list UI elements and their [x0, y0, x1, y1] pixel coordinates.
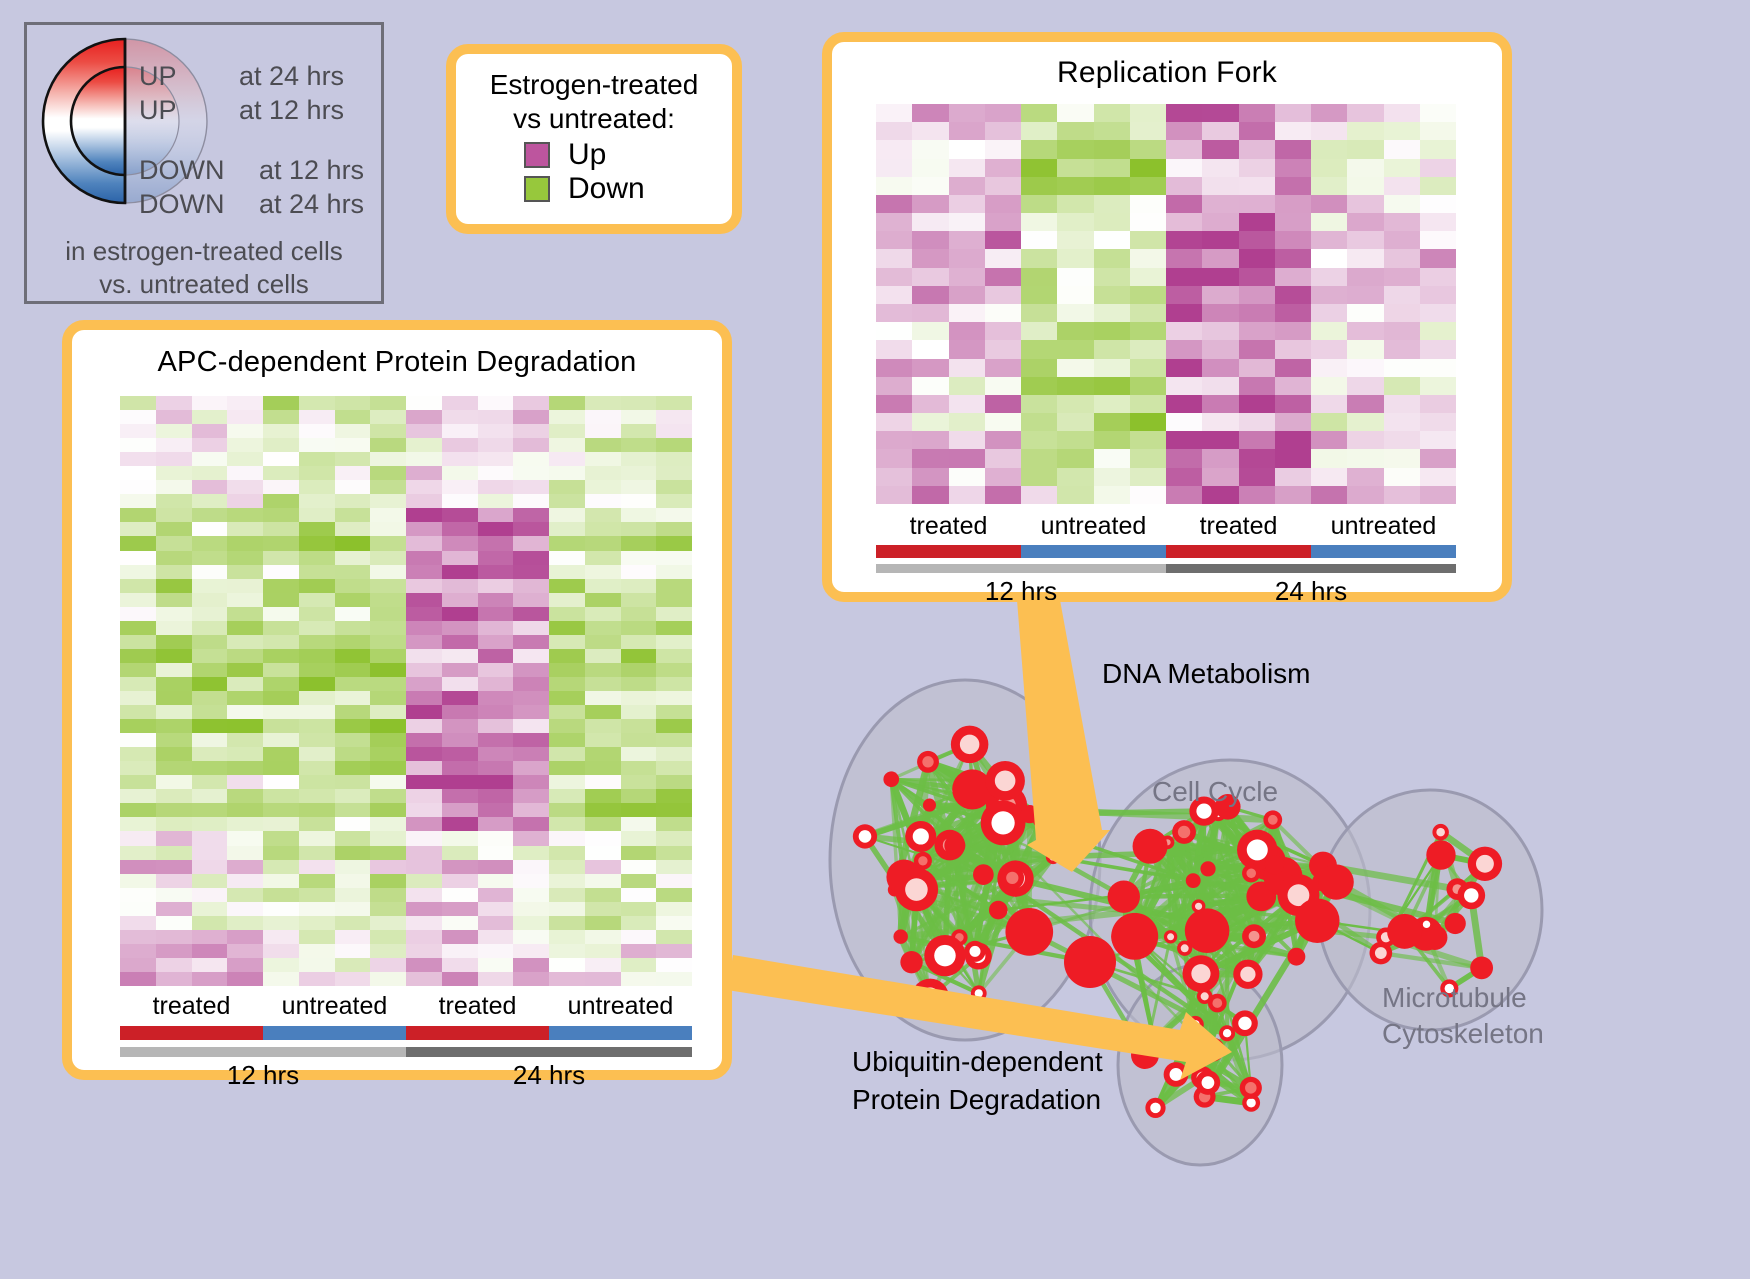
heatmap-cell — [406, 691, 442, 705]
heatmap-cell — [1275, 359, 1311, 377]
heatmap-cell — [156, 916, 192, 930]
heatmap-cell — [949, 286, 985, 304]
heatmap-cell — [985, 249, 1021, 267]
heatmap-cell — [949, 413, 985, 431]
heatmap-cell — [1347, 231, 1383, 249]
heatmap-cell — [263, 747, 299, 761]
network-node-core — [905, 878, 928, 901]
heatmap-cell — [1347, 359, 1383, 377]
heatmap-cell — [192, 649, 228, 663]
heatmap-cell — [192, 522, 228, 536]
heatmap-cell — [478, 789, 514, 803]
heatmap-cell — [1166, 431, 1202, 449]
heatmap-cell — [1275, 431, 1311, 449]
heatmap-cell — [227, 775, 263, 789]
heatmap-cell — [912, 213, 948, 231]
heatmap-cell — [192, 396, 228, 410]
heatmap-cell — [513, 508, 549, 522]
heatmap-cell — [406, 860, 442, 874]
heatmap-cell — [263, 930, 299, 944]
heatmap-cell — [621, 761, 657, 775]
heatmap-cell — [1202, 249, 1238, 267]
cluster-label-cell-cycle: Cell Cycle — [1152, 776, 1278, 808]
heatmap-cell — [1239, 322, 1275, 340]
heatmap-cell — [120, 972, 156, 986]
heatmap-cell — [656, 508, 692, 522]
heatmap-cell — [442, 831, 478, 845]
heatmap-cell — [192, 607, 228, 621]
heatmap-cell — [156, 775, 192, 789]
heatmap-cell — [478, 888, 514, 902]
heatmap-cell — [478, 593, 514, 607]
heatmap-cell — [949, 231, 985, 249]
heatmap-cell — [299, 663, 335, 677]
heatmap-cell — [912, 140, 948, 158]
heatmap-cell — [985, 431, 1021, 449]
heatmap-cell — [478, 733, 514, 747]
heatmap-cell — [192, 536, 228, 550]
heatmap-cell — [656, 424, 692, 438]
heatmap-cell — [949, 340, 985, 358]
heatmap-cell — [1057, 340, 1093, 358]
heatmap-cell — [299, 424, 335, 438]
heatmap-cell — [621, 705, 657, 719]
heatmap-cell — [156, 424, 192, 438]
heatmap-cell — [1275, 195, 1311, 213]
heatmap-cell — [1094, 449, 1130, 467]
network-node-core — [920, 988, 939, 1007]
heatmap-cell — [513, 607, 549, 621]
heatmap-cell — [335, 635, 371, 649]
heatmap-cell — [1275, 486, 1311, 504]
heatmap-cell — [985, 104, 1021, 122]
heatmap-cell — [406, 607, 442, 621]
heatmap-cell — [227, 579, 263, 593]
heatmap-cell — [1202, 304, 1238, 322]
heatmap-cell — [985, 449, 1021, 467]
heatmap-cell — [370, 691, 406, 705]
heatmap-cell — [656, 775, 692, 789]
heatmap-cell — [621, 635, 657, 649]
heatmap-cell — [1384, 213, 1420, 231]
heatmap-cell — [406, 733, 442, 747]
heatmap-cell — [1021, 322, 1057, 340]
heatmap-cell — [585, 508, 621, 522]
heatmap-cell — [335, 874, 371, 888]
heatmap-cell — [621, 803, 657, 817]
heatmap-cell — [1311, 195, 1347, 213]
heatmap-cell — [621, 621, 657, 635]
heatmap-cell — [1384, 286, 1420, 304]
heatmap-cell — [192, 747, 228, 761]
heatmap-cell — [370, 677, 406, 691]
heatmap-cell — [192, 593, 228, 607]
heatmap-cell — [335, 424, 371, 438]
legend-title-line2: vs untreated: — [456, 102, 732, 136]
heatmap-cell — [406, 494, 442, 508]
heatmap-cell — [192, 466, 228, 480]
heatmap-cell — [985, 413, 1021, 431]
heatmap-cell — [370, 831, 406, 845]
heatmap-cell — [478, 944, 514, 958]
heatmap-cell — [1384, 122, 1420, 140]
heatmap-cell — [912, 359, 948, 377]
heatmap-cell — [442, 396, 478, 410]
network-node-core — [991, 811, 1014, 834]
heatmap-cell — [1311, 268, 1347, 286]
apc-annotation: treated untreated treated untreated 12 h… — [120, 992, 692, 1087]
heatmap-cell — [156, 452, 192, 466]
treatment-bar-segment — [1021, 545, 1166, 558]
heatmap-cell — [1275, 395, 1311, 413]
heatmap-cell — [299, 972, 335, 986]
heatmap-cell — [442, 424, 478, 438]
heatmap-cell — [442, 508, 478, 522]
heatmap-cell — [120, 438, 156, 452]
heatmap-cell — [335, 846, 371, 860]
heatmap-cell — [949, 140, 985, 158]
heatmap-cell — [1384, 340, 1420, 358]
heatmap-cell — [621, 649, 657, 663]
network-node-core — [1464, 888, 1478, 902]
heatmap-cell — [1275, 322, 1311, 340]
heatmap-cell — [156, 607, 192, 621]
heatmap-cell — [227, 396, 263, 410]
heatmap-cell — [442, 536, 478, 550]
heatmap-cell — [656, 466, 692, 480]
heatmap-cell — [156, 691, 192, 705]
heatmap-cell — [1202, 377, 1238, 395]
heatmap-cell — [478, 930, 514, 944]
heatmap-cell — [406, 888, 442, 902]
heatmap-cell — [549, 677, 585, 691]
heatmap-cell — [1166, 395, 1202, 413]
heatmap-cell — [912, 268, 948, 286]
heatmap-cell — [299, 930, 335, 944]
heatmap-cell — [192, 705, 228, 719]
heatmap-cell — [299, 607, 335, 621]
heatmap-cell — [478, 916, 514, 930]
heatmap-cell — [585, 396, 621, 410]
heatmap-cell — [1057, 122, 1093, 140]
heatmap-cell — [1094, 159, 1130, 177]
heatmap-cell — [120, 607, 156, 621]
heatmap-cell — [656, 789, 692, 803]
heatmap-cell — [1130, 449, 1166, 467]
heatmap-cell — [1420, 395, 1456, 413]
heatmap-cell — [442, 902, 478, 916]
heatmap-cell — [227, 916, 263, 930]
heatmap-cell — [263, 789, 299, 803]
heatmap-cell — [621, 424, 657, 438]
heatmap-cell — [656, 831, 692, 845]
heatmap-cell — [549, 972, 585, 986]
heatmap-cell — [335, 466, 371, 480]
heatmap-cell — [227, 565, 263, 579]
heatmap-cell — [513, 888, 549, 902]
heatmap-cell — [549, 775, 585, 789]
network-node-core — [1150, 1103, 1161, 1114]
heatmap-cell — [406, 831, 442, 845]
treatment-bar-segment — [549, 1026, 692, 1040]
heatmap-cell — [156, 593, 192, 607]
heatmap-cell — [406, 944, 442, 958]
heatmap-cell — [585, 930, 621, 944]
heatmap-cell — [335, 719, 371, 733]
heatmap-cell — [1275, 249, 1311, 267]
heatmap-cell — [156, 761, 192, 775]
heatmap-cell — [406, 902, 442, 916]
heatmap-cell — [263, 424, 299, 438]
heatmap-cell — [227, 972, 263, 986]
heatmap-cell — [263, 621, 299, 635]
heatmap-cell — [656, 480, 692, 494]
legend-direction-2: DOWN — [139, 155, 224, 186]
heatmap-cell — [513, 944, 549, 958]
heatmap-cell — [192, 438, 228, 452]
heatmap-cell — [621, 607, 657, 621]
network-node-core — [1238, 1017, 1251, 1030]
heatmap-cell — [227, 874, 263, 888]
heatmap-cell — [1166, 122, 1202, 140]
heatmap-cell — [1420, 177, 1456, 195]
heatmap-cell — [549, 733, 585, 747]
heatmap-cell — [263, 508, 299, 522]
heatmap-cell — [442, 888, 478, 902]
heatmap-cell — [549, 761, 585, 775]
treatment-bar-segment — [876, 545, 1021, 558]
heatmap-cell — [120, 579, 156, 593]
heatmap-cell — [478, 817, 514, 831]
heatmap-cell — [120, 494, 156, 508]
heatmap-cell — [621, 579, 657, 593]
heatmap-cell — [1384, 159, 1420, 177]
heatmap-cell — [299, 691, 335, 705]
heatmap-cell — [549, 930, 585, 944]
network-node-core — [1375, 947, 1387, 959]
heatmap-cell — [1202, 122, 1238, 140]
heatmap-cell — [120, 621, 156, 635]
heatmap-cell — [1239, 486, 1275, 504]
heatmap-cell — [621, 846, 657, 860]
heatmap-cell — [1420, 413, 1456, 431]
heatmap-cell — [656, 649, 692, 663]
heatmap-cell — [1420, 268, 1456, 286]
heatmap-cell — [1239, 286, 1275, 304]
heatmap-cell — [120, 747, 156, 761]
heatmap-cell — [513, 705, 549, 719]
heatmap-cell — [406, 846, 442, 860]
heatmap-cell — [656, 565, 692, 579]
heatmap-cell — [1275, 449, 1311, 467]
heatmap-cell — [912, 122, 948, 140]
heatmap-cell — [621, 719, 657, 733]
network-node-core — [1191, 1020, 1200, 1029]
heatmap-cell — [949, 486, 985, 504]
heatmap-cell — [227, 691, 263, 705]
heatmap-cell — [549, 621, 585, 635]
heatmap-cell — [949, 104, 985, 122]
heatmap-cell — [406, 396, 442, 410]
heatmap-cell — [227, 705, 263, 719]
time-label-1: 24 hrs — [406, 1060, 692, 1091]
heatmap-cell — [1420, 377, 1456, 395]
heatmap-cell — [621, 452, 657, 466]
updown-circle-icon — [37, 33, 212, 213]
heatmap-cell — [985, 213, 1021, 231]
heatmap-cell — [406, 972, 442, 986]
heatmap-cell — [1275, 213, 1311, 231]
heatmap-cell — [442, 958, 478, 972]
heatmap-cell — [1021, 249, 1057, 267]
heatmap-cell — [156, 733, 192, 747]
heatmap-cell — [156, 860, 192, 874]
heatmap-cell — [442, 410, 478, 424]
heatmap-cell — [1057, 213, 1093, 231]
heatmap-cell — [335, 972, 371, 986]
heatmap-cell — [227, 789, 263, 803]
heatmap-cell — [1347, 104, 1383, 122]
heatmap-cell — [1130, 177, 1166, 195]
network-node — [1287, 948, 1305, 966]
heatmap-cell — [1311, 340, 1347, 358]
heatmap-cell — [120, 775, 156, 789]
heatmap-cell — [120, 396, 156, 410]
heatmap-cell — [335, 860, 371, 874]
group-label-0: treated — [876, 512, 1021, 541]
heatmap-cell — [263, 944, 299, 958]
heatmap-cell — [1202, 486, 1238, 504]
heatmap-cell — [370, 888, 406, 902]
heatmap-cell — [263, 565, 299, 579]
heatmap-cell — [120, 466, 156, 480]
heatmap-cell — [120, 831, 156, 845]
heatmap-cell — [621, 536, 657, 550]
heatmap-cell — [621, 565, 657, 579]
heatmap-cell — [1166, 340, 1202, 358]
heatmap-cell — [985, 177, 1021, 195]
heatmap-cell — [120, 551, 156, 565]
panel-apc-dependent-protein-degradation: APC-dependent Protein Degradation treate… — [62, 320, 732, 1080]
heatmap-cell — [406, 536, 442, 550]
heatmap-cell — [513, 635, 549, 649]
heatmap-cell — [299, 803, 335, 817]
heatmap-cell — [263, 831, 299, 845]
heatmap-cell — [1311, 486, 1347, 504]
heatmap-cell — [1057, 195, 1093, 213]
heatmap-cell — [478, 551, 514, 565]
heatmap-cell — [370, 522, 406, 536]
heatmap-cell — [192, 424, 228, 438]
heatmap-cell — [1166, 249, 1202, 267]
heatmap-cell — [227, 607, 263, 621]
heatmap-cell — [442, 705, 478, 719]
heatmap-cell — [156, 902, 192, 916]
heatmap-cell — [263, 410, 299, 424]
heatmap-cell — [299, 494, 335, 508]
heatmap-cell — [192, 635, 228, 649]
heatmap-cell — [621, 396, 657, 410]
heatmap-cell — [227, 944, 263, 958]
heatmap-cell — [1166, 159, 1202, 177]
heatmap-cell — [192, 874, 228, 888]
heatmap-cell — [120, 508, 156, 522]
heatmap-cell — [513, 902, 549, 916]
heatmap-cell — [442, 944, 478, 958]
heatmap-cell — [1420, 159, 1456, 177]
heatmap-cell — [1347, 431, 1383, 449]
heatmap-cell — [156, 831, 192, 845]
heatmap-cell — [299, 761, 335, 775]
timepoint-labels: 12 hrs 24 hrs — [120, 1060, 692, 1091]
heatmap-cell — [1347, 177, 1383, 195]
heatmap-cell — [299, 747, 335, 761]
heatmap-cell — [227, 410, 263, 424]
heatmap-cell — [192, 761, 228, 775]
heatmap-cell — [1202, 195, 1238, 213]
heatmap-cell — [585, 480, 621, 494]
heatmap-cell — [192, 480, 228, 494]
heatmap-cell — [156, 396, 192, 410]
heatmap-cell — [156, 874, 192, 888]
heatmap-cell — [1311, 322, 1347, 340]
heatmap-cell — [442, 565, 478, 579]
heatmap-cell — [1094, 231, 1130, 249]
heatmap-cell — [585, 649, 621, 663]
heatmap-cell — [1057, 431, 1093, 449]
heatmap-cell — [192, 621, 228, 635]
heatmap-cell — [1021, 395, 1057, 413]
heatmap-cell — [1021, 213, 1057, 231]
heatmap-cell — [1057, 268, 1093, 286]
heatmap-cell — [406, 621, 442, 635]
heatmap-cell — [513, 733, 549, 747]
heatmap-cell — [227, 452, 263, 466]
heatmap-cell — [549, 747, 585, 761]
down-color-swatch — [524, 176, 550, 202]
heatmap-cell — [299, 902, 335, 916]
network-node — [989, 901, 1008, 920]
heatmap-cell — [1130, 431, 1166, 449]
heatmap-cell — [1094, 140, 1130, 158]
heatmap-cell — [406, 635, 442, 649]
heatmap-cell — [1094, 322, 1130, 340]
network-node — [1108, 880, 1140, 912]
heatmap-cell — [1239, 377, 1275, 395]
heatmap-cell — [585, 874, 621, 888]
heatmap-cell — [370, 972, 406, 986]
heatmap-cell — [299, 817, 335, 831]
heatmap-cell — [192, 803, 228, 817]
heatmap-cell — [1021, 268, 1057, 286]
heatmap-cell — [876, 340, 912, 358]
heatmap-cell — [876, 322, 912, 340]
network-node-core — [918, 856, 927, 865]
heatmap-cell — [1021, 231, 1057, 249]
heatmap-cell — [513, 831, 549, 845]
heatmap-cell — [1021, 468, 1057, 486]
heatmap-cell — [1311, 449, 1347, 467]
heatmap-cell — [656, 452, 692, 466]
heatmap-cell — [120, 719, 156, 733]
network-node-core — [913, 828, 929, 844]
heatmap-cell — [621, 747, 657, 761]
network-edge — [1030, 811, 1204, 814]
heatmap-cell — [585, 579, 621, 593]
heatmap-cell — [442, 916, 478, 930]
heatmap-cell — [985, 395, 1021, 413]
heatmap-cell — [1275, 268, 1311, 286]
